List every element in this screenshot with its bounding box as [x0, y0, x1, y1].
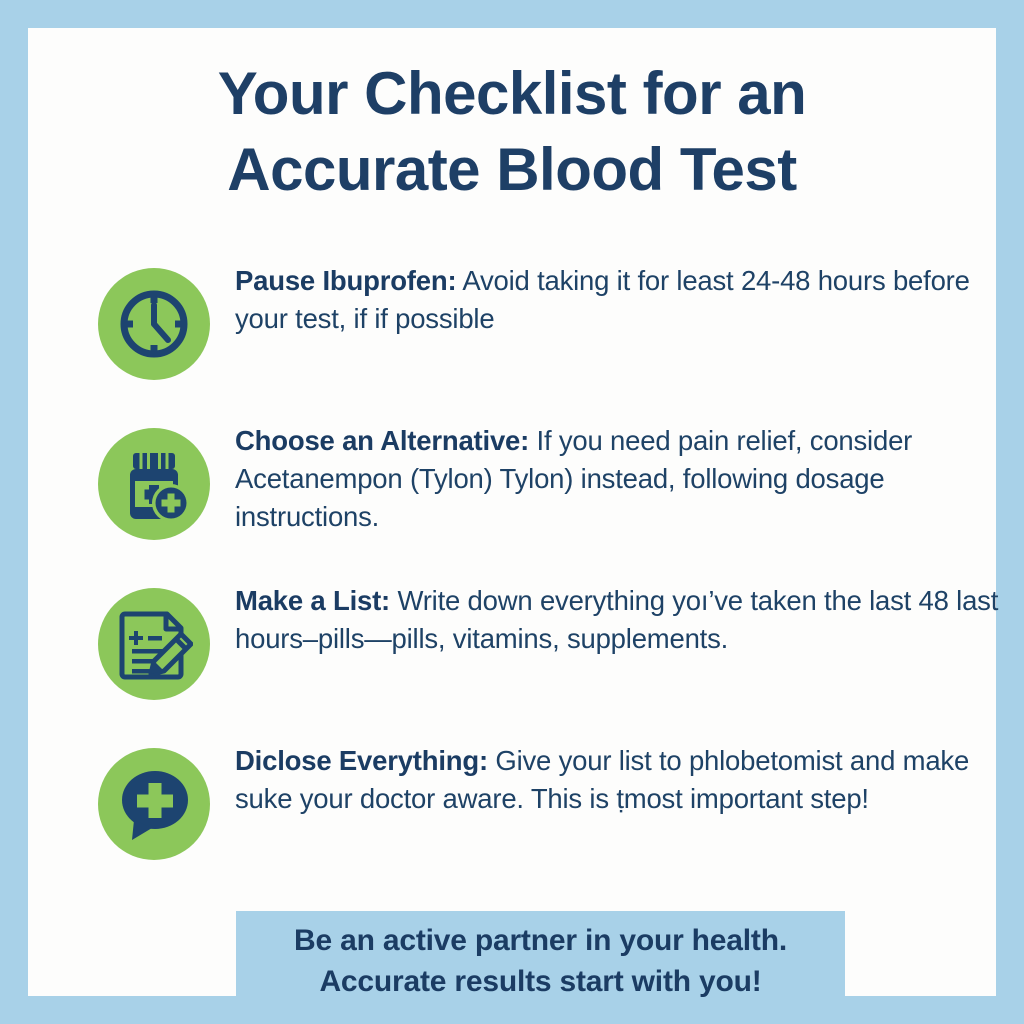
banner-line-1: Be an active partner in your health. [294, 920, 787, 961]
checklist-item-lead: Pause Ibuprofen: [235, 265, 456, 296]
speech-bubble-plus-icon [114, 764, 194, 844]
checklist-item: Pause Ibuprofen: Avoid taking it for lea… [68, 256, 996, 416]
checklist-item-text: Make a List: Write down everything yoı’v… [235, 582, 1024, 658]
page-title: Your Checklist for an Accurate Blood Tes… [56, 56, 968, 208]
checklist: Pause Ibuprofen: Avoid taking it for lea… [68, 256, 996, 896]
pill-bottle-plus-icon [115, 445, 193, 523]
checklist-item-text: Diclose Everything: Give your list to ph… [235, 742, 1024, 818]
clock-icon [116, 286, 192, 362]
banner-line-2: Accurate results start with you! [319, 961, 761, 1002]
checklist-item-text: Choose an Alternative: If you need pain … [235, 422, 1024, 536]
checklist-item-lead: Diclose Everything: [235, 745, 488, 776]
document-pencil-icon [115, 605, 193, 683]
checklist-item-text: Pause Ibuprofen: Avoid taking it for lea… [235, 262, 1024, 338]
checklist-item: Make a List: Write down everything yoı’v… [68, 576, 996, 736]
title-line-1: Your Checklist for an [56, 56, 968, 132]
checklist-item: Diclose Everything: Give your list to ph… [68, 736, 996, 896]
poster-card: Your Checklist for an Accurate Blood Tes… [28, 28, 996, 996]
checklist-item-icon-badge [98, 748, 210, 860]
checklist-item-lead: Choose an Alternative: [235, 425, 529, 456]
checklist-item-icon-badge [98, 268, 210, 380]
checklist-item: Choose an Alternative: If you need pain … [68, 416, 996, 576]
checklist-item-icon-badge [98, 588, 210, 700]
title-line-2: Accurate Blood Test [56, 132, 968, 208]
infographic-poster: Your Checklist for an Accurate Blood Tes… [0, 0, 1024, 1024]
checklist-item-icon-badge [98, 428, 210, 540]
checklist-item-lead: Make a List: [235, 585, 390, 616]
call-to-action-banner: Be an active partner in your health. Acc… [236, 911, 845, 1011]
